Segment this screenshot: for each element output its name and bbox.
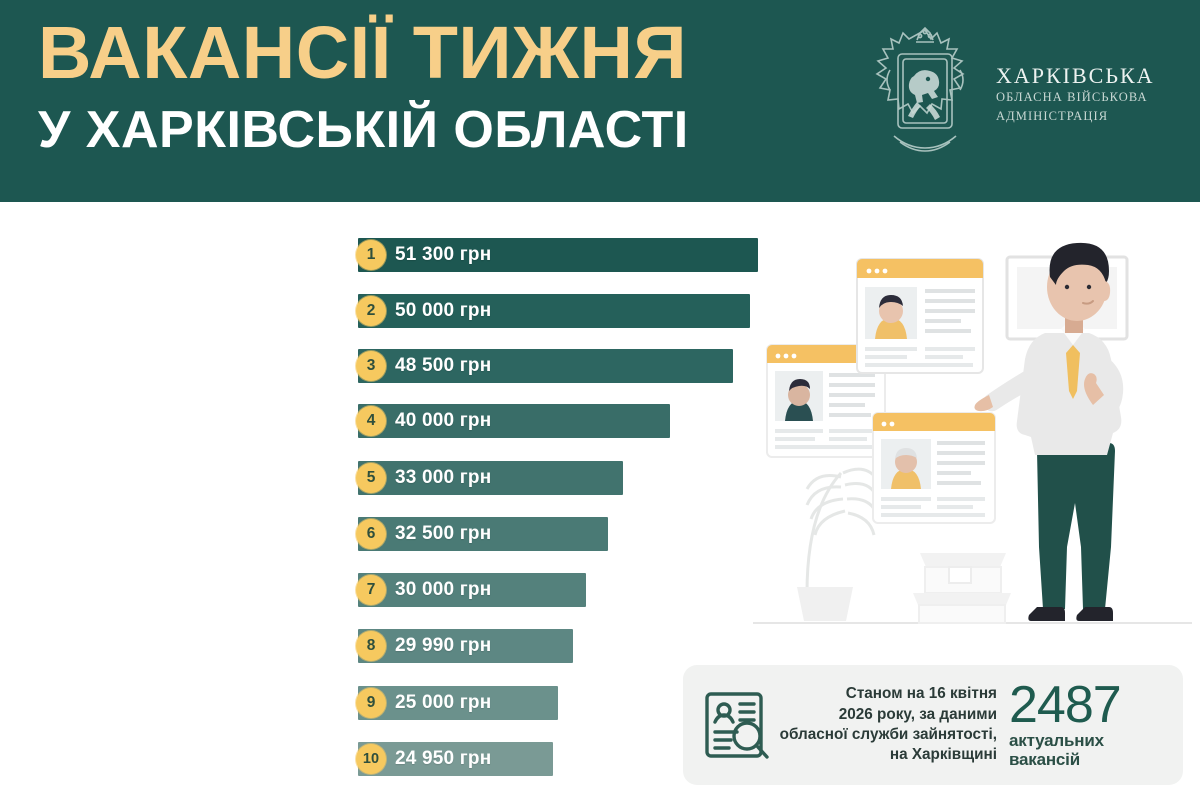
infographic-page: ВАКАНСІЇ ТИЖНЯ У ХАРКІВСЬКІЙ ОБЛАСТІ xyxy=(0,0,1200,800)
chart-bar-value: 50 000 грн xyxy=(395,300,491,322)
summary-footer-card: Станом на 16 квітня 2026 року, за даними… xyxy=(683,665,1183,785)
organization-logo: ХАРКІВСЬКА ОБЛАСНА ВІЙСЬКОВА АДМІНІСТРАЦ… xyxy=(870,24,1155,164)
man-reviewing-resumes-illustration xyxy=(745,215,1200,655)
chart-rank-badge: 5 xyxy=(356,463,386,493)
chart-bar: 632 500 грн xyxy=(358,517,608,551)
chart-rank-badge: 2 xyxy=(356,296,386,326)
chart-bar-value: 48 500 грн xyxy=(395,355,491,377)
chart-bar-value: 51 300 грн xyxy=(395,244,491,266)
chart-rank-badge: 9 xyxy=(356,688,386,718)
chart-bar-value: 24 950 грн xyxy=(395,748,491,770)
chart-bar: 730 000 грн xyxy=(358,573,586,607)
footer-note: Станом на 16 квітня 2026 року, за даними… xyxy=(779,684,1009,765)
footer-note-line-2: 2026 року, за даними xyxy=(779,705,997,725)
page-title: ВАКАНСІЇ ТИЖНЯ xyxy=(38,16,687,90)
vacancy-count-caption-1: актуальних xyxy=(1009,731,1169,750)
chart-bar: 925 000 грн xyxy=(358,686,558,720)
chart-bar: 829 990 грн xyxy=(358,629,573,663)
chart-bar-value: 33 000 грн xyxy=(395,467,491,489)
header-banner: ВАКАНСІЇ ТИЖНЯ У ХАРКІВСЬКІЙ ОБЛАСТІ xyxy=(0,0,1200,202)
chart-bar-value: 25 000 грн xyxy=(395,692,491,714)
chart-bar: 250 000 грн xyxy=(358,294,750,328)
chart-bar-value: 29 990 грн xyxy=(395,635,491,657)
logo-subtitle-1: ОБЛАСНА ВІЙСЬКОВА xyxy=(996,90,1155,106)
chart-bar: 348 500 грн xyxy=(358,349,733,383)
footer-note-line-4: на Харківщині xyxy=(779,745,997,765)
chart-bar: 151 300 грн xyxy=(358,238,758,272)
chart-rank-badge: 1 xyxy=(356,240,386,270)
chart-bar-value: 32 500 грн xyxy=(395,523,491,545)
page-subtitle: У ХАРКІВСЬКІЙ ОБЛАСТІ xyxy=(38,104,689,156)
vacancy-count-block: 2487 актуальних вакансій xyxy=(1009,681,1183,770)
footer-note-line-1: Станом на 16 квітня xyxy=(779,684,997,704)
chart-bar: 533 000 грн xyxy=(358,461,623,495)
chart-rank-badge: 4 xyxy=(356,406,386,436)
vacancy-count-caption-2: вакансій xyxy=(1009,750,1169,769)
chart-bar: 440 000 грн xyxy=(358,404,670,438)
resume-search-icon xyxy=(697,684,779,766)
logo-title: ХАРКІВСЬКА xyxy=(996,64,1155,87)
chart-bar: 1024 950 грн xyxy=(358,742,553,776)
chart-rank-badge: 3 xyxy=(356,351,386,381)
chart-rank-badge: 10 xyxy=(356,744,386,774)
chart-bar-value: 30 000 грн xyxy=(395,579,491,601)
footer-note-line-3: обласної служби зайнятості, xyxy=(779,725,997,745)
logo-subtitle-2: АДМІНІСТРАЦІЯ xyxy=(996,109,1155,125)
vacancy-bar-chart: Бухгалтер151 300 грнКухар250 000 грнВоді… xyxy=(0,202,760,800)
chart-bar-value: 40 000 грн xyxy=(395,410,491,432)
coat-of-arms-emblem xyxy=(870,24,980,164)
chart-rank-badge: 6 xyxy=(356,519,386,549)
vacancy-count-number: 2487 xyxy=(1009,681,1169,731)
chart-rank-badge: 8 xyxy=(356,631,386,661)
chart-rank-badge: 7 xyxy=(356,575,386,605)
